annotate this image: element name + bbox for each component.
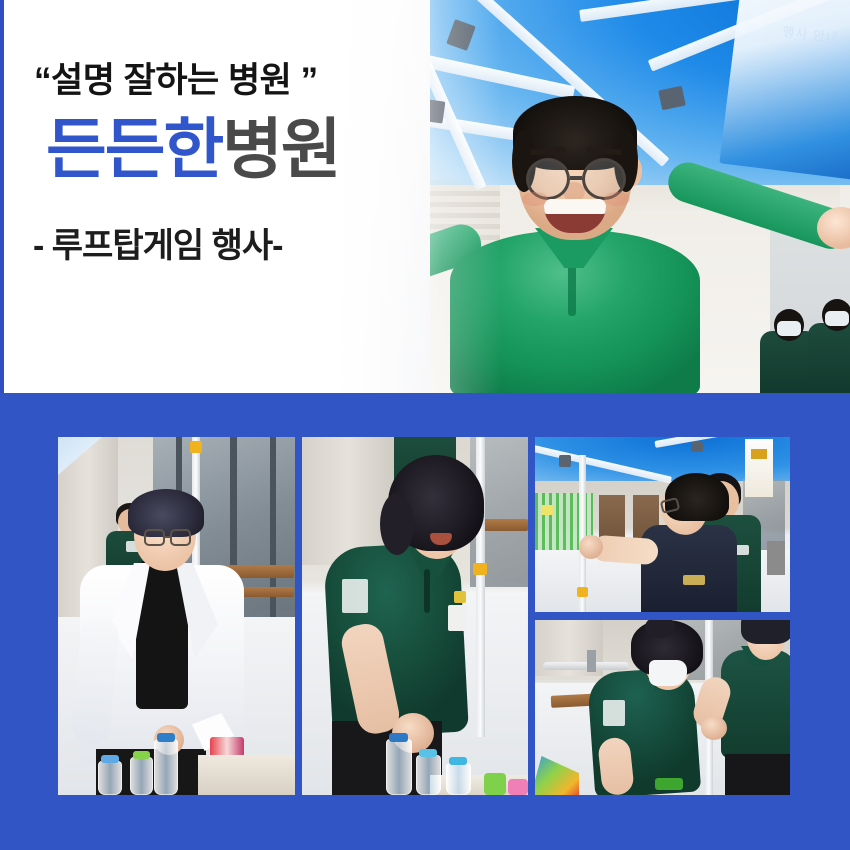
headline-quote: “설명 잘하는 병원 ” — [34, 52, 318, 103]
face-mask-icon — [649, 660, 687, 686]
eyeglasses-icon — [144, 529, 165, 546]
bottle-cap — [133, 751, 150, 759]
id-badge — [448, 605, 466, 631]
lanyard-clip — [454, 591, 466, 603]
event-banner: 행사 안내 — [719, 0, 850, 181]
canopy-joint — [691, 442, 703, 452]
fence-sign — [541, 505, 553, 515]
held-green-object — [655, 778, 683, 790]
handrail-post — [587, 650, 596, 672]
woman-hair-ponytail — [380, 493, 414, 555]
bystander-figure — [808, 323, 850, 393]
pole-clip — [190, 441, 202, 453]
banner-mark — [751, 449, 767, 459]
event-banner-text: 행사 안내 — [735, 15, 850, 52]
brand-rest: 병원 — [222, 112, 339, 186]
bottle-cap — [389, 733, 408, 742]
lab-coat-man-hair — [128, 489, 204, 537]
pole-clip — [577, 587, 588, 597]
colored-cup — [508, 779, 528, 795]
gallery-photo-4[interactable] — [535, 620, 790, 795]
bottle-cap — [157, 733, 175, 742]
polo-placket — [424, 569, 430, 613]
second-staff-trousers — [725, 754, 790, 795]
shirt-chest-logo — [683, 575, 705, 585]
wooden-bench — [484, 519, 528, 531]
second-staff-hair — [741, 620, 790, 644]
water-bottle — [386, 739, 412, 795]
shirt-sleeve-logo — [603, 700, 625, 726]
water-bottle — [98, 761, 122, 795]
shirt-sleeve-logo — [342, 579, 368, 613]
event-table — [198, 755, 295, 795]
second-staff-hand — [701, 716, 727, 740]
hero-left-accent-bar — [0, 0, 4, 393]
glasses-bridge — [570, 176, 582, 180]
water-bottle — [446, 763, 471, 795]
headline-block: “설명 잘하는 병원 ” 든든한병원 - 루프탑게임 행사- — [0, 0, 430, 393]
trash-bin — [767, 541, 785, 575]
brand-name: 든든한병원 — [46, 116, 340, 182]
pole-clip — [473, 563, 487, 575]
man-teeth — [544, 199, 606, 214]
face-mask-icon — [777, 321, 801, 336]
brand-highlight: 든든한 — [46, 112, 222, 186]
gallery-photo-1[interactable] — [58, 437, 295, 795]
event-subtitle: - 루프탑게임 행사- — [33, 218, 283, 267]
hanging-banner — [745, 439, 773, 497]
hero-banner: 행사 안내 — [0, 0, 850, 393]
photo-gallery — [0, 393, 850, 850]
face-mask-icon — [825, 311, 849, 326]
man-cheek — [604, 192, 630, 206]
water-bottle — [154, 739, 178, 795]
handrail — [543, 662, 629, 670]
man-navy-shirt — [641, 525, 737, 612]
bottle-cap — [419, 749, 437, 757]
eyeglasses-bridge — [165, 536, 170, 538]
water-bottle — [416, 755, 441, 795]
second-staff-green-polo — [721, 650, 790, 758]
gallery-photo-3[interactable] — [535, 437, 790, 612]
eyeglasses-icon — [170, 529, 191, 546]
bottle-cap — [101, 755, 119, 763]
bottle-cap — [449, 757, 467, 765]
gallery-photo-2[interactable] — [302, 437, 528, 795]
canopy-joint — [559, 455, 571, 467]
water-bottle — [130, 757, 153, 795]
colored-cup — [484, 773, 506, 795]
navy-man-hand — [579, 535, 603, 559]
